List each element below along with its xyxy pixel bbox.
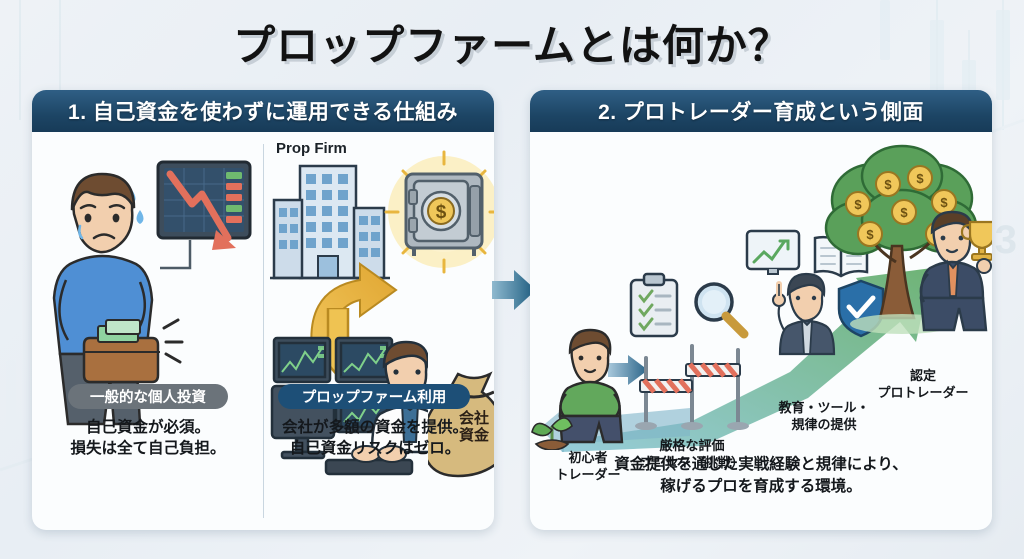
svg-text:$: $ — [916, 171, 924, 186]
flow-certified-line1: 認定 — [860, 368, 986, 385]
summary-line2: 稼げるプロを育成する環境。 — [530, 476, 992, 498]
svg-text:$: $ — [854, 197, 862, 212]
flow-label-education: 教育・ツール・ 規律の提供 — [758, 400, 890, 434]
svg-text:$: $ — [866, 227, 874, 242]
badge-retail-investing: 一般的な個人投資 — [68, 384, 228, 409]
panel-pro-trader-development: 2. プロトレーダー育成という側面 — [530, 90, 992, 530]
panel-right-header: 2. プロトレーダー育成という側面 — [530, 90, 992, 132]
flow-education-line2: 規律の提供 — [758, 417, 890, 434]
summary-line1: 資金提供を通じた実戦経験と規律により、 — [530, 454, 992, 476]
flow-label-certified: 認定 プロトレーダー — [860, 368, 986, 402]
right-panel-summary: 資金提供を通じた実戦経験と規律により、 稼げるプロを育成する環境。 — [530, 454, 992, 497]
panel-left-body: Prop Firm Prop Firm — [32, 132, 494, 530]
svg-text:$: $ — [436, 202, 447, 223]
caption-prop-line1: 会社が多額の資金を提供。 — [266, 418, 484, 439]
prop-firm-label-visible: Prop Firm — [276, 140, 347, 157]
flow-education-line1: 教育・ツール・ — [758, 400, 890, 417]
sprout-icon — [530, 404, 574, 450]
svg-text:$: $ — [884, 177, 892, 192]
infographic-canvas: 0.33 プロップファームとは何か？ 1. 自己資金を使わずに運用できる仕組み — [0, 0, 1024, 559]
caption-retail-investing: 自己資金が必須。 損失は全て自己負担。 — [42, 418, 254, 460]
caption-retail-line2: 損失は全て自己負担。 — [42, 439, 254, 460]
flow-evaluation-line1: 厳格な評価 — [626, 438, 758, 455]
panel-left-header: 1. 自己資金を使わずに運用できる仕組み — [32, 90, 494, 132]
certified-pro-trader-illustration — [906, 210, 992, 332]
caption-retail-line1: 自己資金が必須。 — [42, 418, 254, 439]
panel-left-divider — [263, 144, 264, 518]
panel-right-body: $$$ $$$$ — [530, 132, 992, 530]
svg-text:$: $ — [940, 195, 948, 210]
caption-prop-firm-usage: 会社が多額の資金を提供。 自己資金リスクはゼロ。 — [266, 418, 484, 460]
page-title: プロップファームとは何か？ — [0, 12, 1024, 73]
caption-prop-line2: 自己資金リスクはゼロ。 — [266, 439, 484, 460]
tools-chart-icon — [744, 228, 802, 276]
panel-mechanism: 1. 自己資金を使わずに運用できる仕組み — [32, 90, 494, 530]
badge-prop-firm-usage: プロップファーム利用 — [278, 384, 470, 409]
flow-certified-line2: プロトレーダー — [860, 385, 986, 402]
evaluation-hurdles-icon — [626, 328, 756, 436]
